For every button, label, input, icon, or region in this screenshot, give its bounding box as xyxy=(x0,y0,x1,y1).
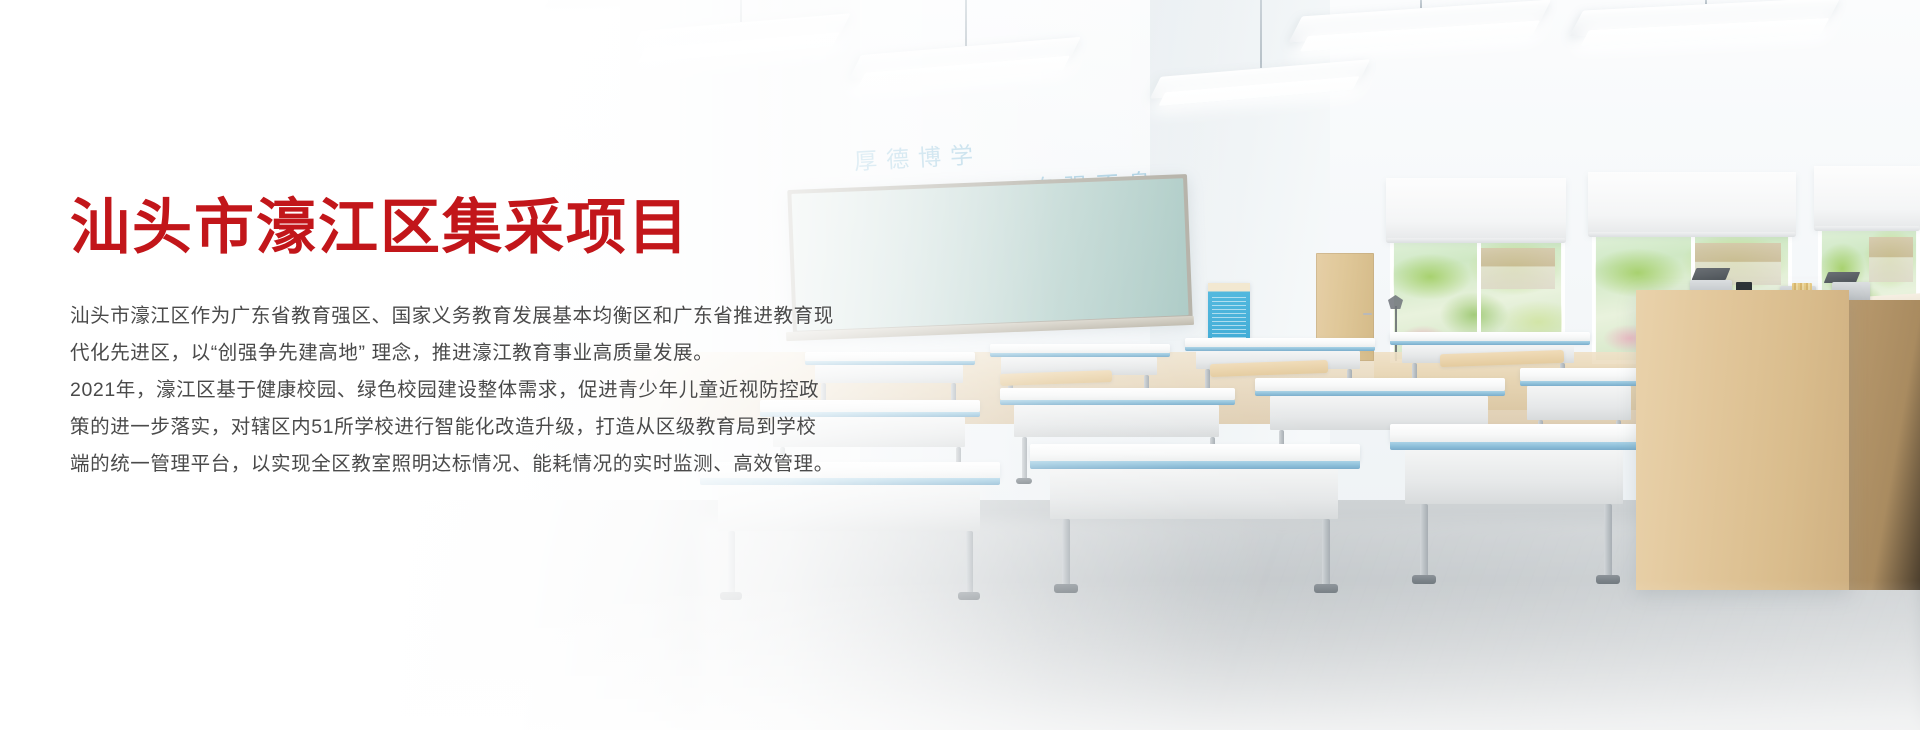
desk-top xyxy=(1185,338,1375,347)
teacher-podium xyxy=(1636,290,1849,590)
desk-top xyxy=(1030,444,1360,461)
student-desk xyxy=(1390,424,1640,594)
student-desk xyxy=(700,462,1000,612)
window-building xyxy=(1869,237,1913,282)
window-blind-roller xyxy=(1588,232,1796,237)
desk-foot xyxy=(1054,584,1078,593)
ceiling-light xyxy=(860,0,1070,110)
window-blind-roller xyxy=(1386,238,1566,243)
desk-leg xyxy=(966,531,973,597)
podium-equipment-lid xyxy=(1692,268,1731,280)
window-building xyxy=(1478,248,1556,288)
light-suspension-rod xyxy=(1420,0,1422,8)
desk-leg xyxy=(1062,519,1070,589)
banner-content: 汕头市濠江区集采项目 汕头市濠江区作为广东省教育强区、国家义务教育发展基本均衡区… xyxy=(70,196,1050,483)
door-handle-icon xyxy=(1363,313,1372,315)
desk-front-panel xyxy=(718,485,980,531)
ceiling-light xyxy=(1580,0,1830,46)
desk-top xyxy=(1255,378,1505,391)
ceiling-light xyxy=(640,0,840,90)
light-suspension-rod xyxy=(740,0,742,22)
description-paragraph: 汕头市濠江区作为广东省教育强区、国家义务教育发展基本均衡区和广东省推进教育现 代… xyxy=(70,298,1050,483)
description-line: 策的进一步落实，对辖区内51所学校进行智能化改造升级，打造从区级教育局到学校 xyxy=(70,409,1050,446)
desk-top xyxy=(1390,332,1590,341)
podium-side-panel xyxy=(1849,300,1920,590)
description-line: 汕头市濠江区作为广东省教育强区、国家义务教育发展基本均衡区和广东省推进教育现 xyxy=(70,298,1050,335)
window-blind xyxy=(1814,166,1920,228)
desk-top xyxy=(1390,424,1640,442)
window-blind xyxy=(1386,178,1566,240)
student-desk xyxy=(1030,444,1360,604)
description-line: 2021年，濠江区基于健康校园、绿色校园建设整体需求，促进青少年儿童近视防控政 xyxy=(70,372,1050,409)
desk-leg xyxy=(1420,504,1428,580)
desk-leg xyxy=(728,531,735,597)
desk-foot xyxy=(1412,575,1436,584)
desk-foot xyxy=(958,592,980,600)
desk-front-panel xyxy=(1050,469,1338,519)
desk-edge xyxy=(1390,442,1640,450)
description-line: 代化先进区，以“创强争先建高地” 理念，推进濠江教育事业高质量发展。 xyxy=(70,335,1050,372)
desk-foot xyxy=(1314,584,1338,593)
desk-foot xyxy=(720,592,742,600)
hero-banner: 厚德博学 自强不息 xyxy=(0,0,1920,730)
description-line: 端的统一管理平台，以实现全区教室照明达标情况、能耗情况的实时监测、高效管理。 xyxy=(70,446,1050,483)
light-suspension-rod xyxy=(965,0,967,46)
desk-leg xyxy=(1322,519,1330,589)
desk-leg xyxy=(1604,504,1612,580)
desk-front-panel xyxy=(1405,450,1623,504)
desk-top xyxy=(1520,368,1640,381)
ceiling-light xyxy=(1300,0,1540,56)
light-suspension-rod xyxy=(1260,0,1262,68)
desk-foot xyxy=(1596,575,1620,584)
window-blind xyxy=(1588,172,1796,234)
desk-edge xyxy=(1030,461,1360,469)
page-title: 汕头市濠江区集采项目 xyxy=(70,196,1050,260)
window-blind-roller xyxy=(1814,226,1920,231)
wall-motto-left: 厚德博学 xyxy=(853,136,983,177)
desk-front-panel xyxy=(1527,386,1631,420)
